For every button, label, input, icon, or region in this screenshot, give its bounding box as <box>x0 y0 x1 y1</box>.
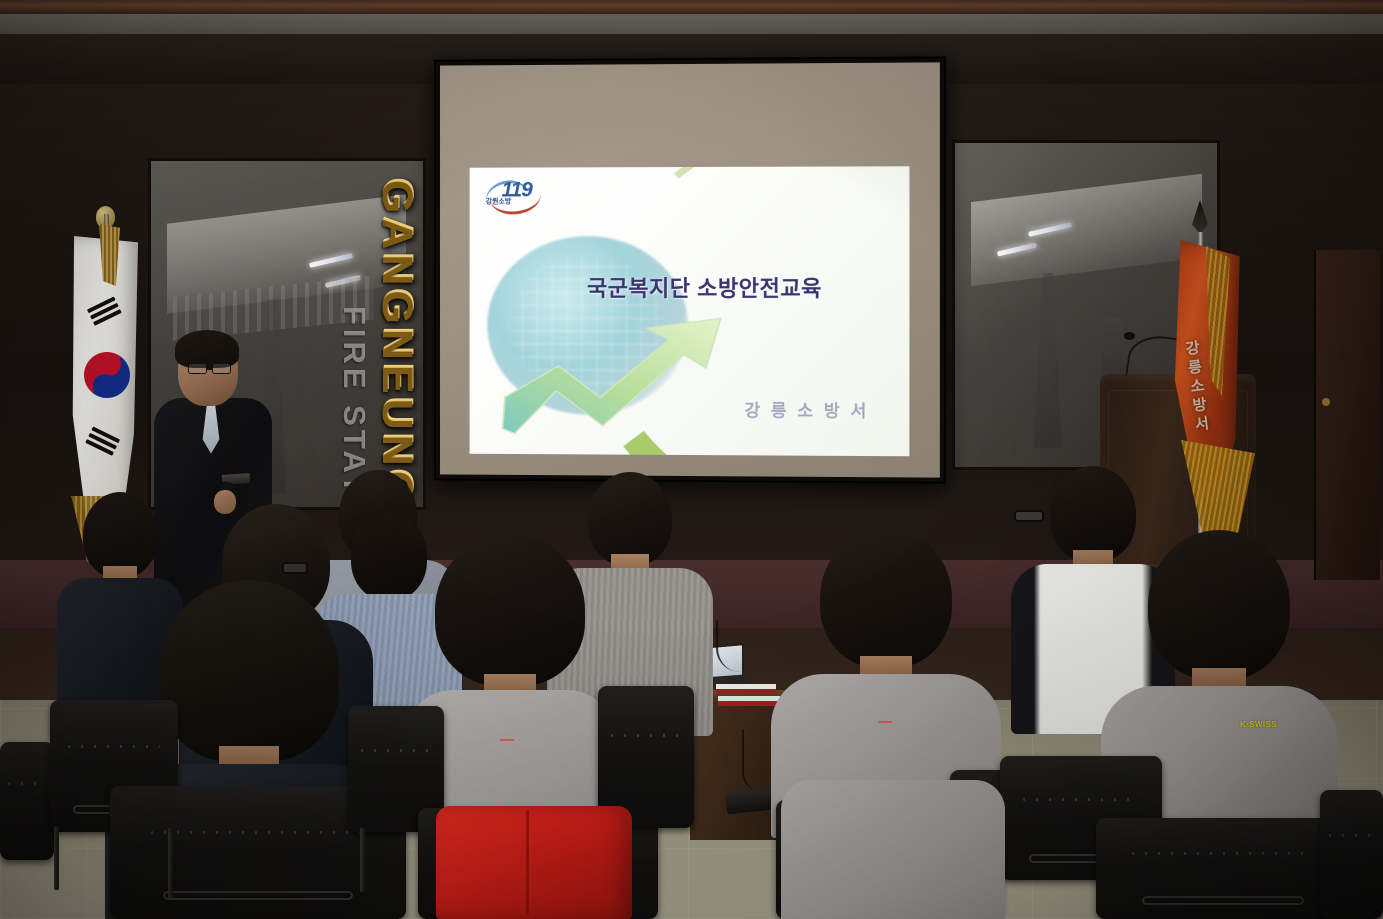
attendee-head <box>1148 530 1290 680</box>
red-binder <box>716 684 776 693</box>
projected-slide: 119 강원소방 국군복지단 소방안전교육 강 릉 소 방 서 <box>470 166 910 456</box>
chair-handle <box>163 891 352 900</box>
chair <box>0 742 54 860</box>
slide-title: 국군복지단 소방안전교육 <box>587 271 822 303</box>
kswiss-logo: K·SWISS <box>1240 720 1277 729</box>
flag-silhouette-reflection <box>1034 273 1062 448</box>
attendee-head <box>159 580 339 762</box>
chair <box>1320 790 1383 919</box>
growth-arrow-graphic <box>496 305 741 438</box>
tshirt-logo: ▬▬ <box>500 736 515 743</box>
cable <box>742 730 762 792</box>
attendee-grey-trousers <box>781 780 1005 919</box>
ceiling-strip <box>0 14 1383 36</box>
chair-handle <box>1142 896 1305 905</box>
screen-surface: 119 강원소방 국군복지단 소방안전교육 강 릉 소 방 서 <box>440 62 940 477</box>
chair <box>1096 818 1350 919</box>
ceiling-reflection <box>971 174 1202 287</box>
list-item <box>780 756 1006 919</box>
attendee-head <box>435 534 585 686</box>
trigram-gon-icon <box>84 426 120 458</box>
logo-subtext: 강원소방 <box>486 196 511 206</box>
taeguk-symbol-icon <box>84 352 130 398</box>
chair-leg <box>54 826 59 890</box>
glasses-icon <box>1014 510 1044 522</box>
tshirt-logo: ▬▬ <box>878 718 893 725</box>
wall-sign-gangneung: GANGNEUNG <box>372 178 421 507</box>
attendee-head <box>820 528 952 668</box>
red-jacket <box>436 806 632 919</box>
lecture-room-scene: FIRE STAT GANGNEUNG <box>0 0 1383 919</box>
chair-leg <box>360 828 365 892</box>
glasses-icon <box>282 562 308 574</box>
projection-screen: 119 강원소방 국군복지단 소방안전교육 강 릉 소 방 서 <box>434 56 946 483</box>
microphone-head-icon <box>1124 332 1135 340</box>
slide-footer: 강 릉 소 방 서 <box>744 396 869 422</box>
logo-119: 119 강원소방 <box>485 176 556 212</box>
trigram-geon-icon <box>87 296 123 328</box>
ceiling-cornice <box>0 0 1383 14</box>
door-knob-icon <box>1322 398 1330 406</box>
glasses-icon <box>188 363 238 374</box>
chair-leg <box>168 828 173 898</box>
wall-sign-fire-station: FIRE STAT <box>336 306 372 498</box>
